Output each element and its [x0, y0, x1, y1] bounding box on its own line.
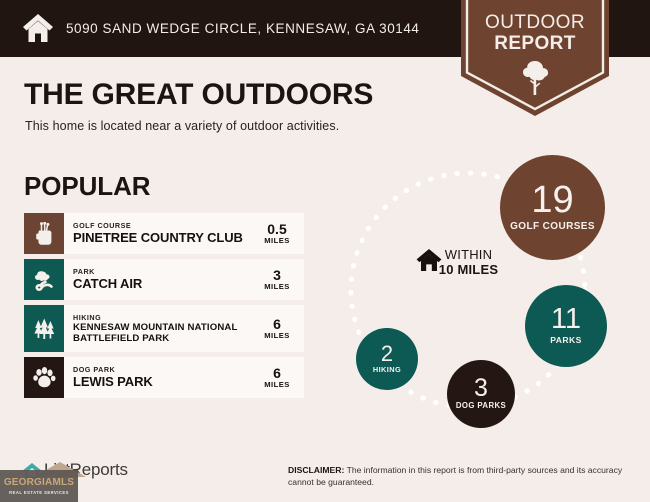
list-item-name: LEWIS PARK — [73, 374, 254, 389]
bubble-label: HIKING — [373, 366, 401, 374]
badge-line2: REPORT — [461, 34, 609, 55]
bubble-label: PARKS — [550, 336, 581, 346]
bubble-value: 11 — [551, 306, 581, 334]
distance-value: 6 — [273, 317, 281, 332]
bubble-value: 2 — [381, 344, 393, 365]
outdoor-report-badge: OUTDOOR REPORT — [461, 0, 609, 116]
list-item-category: HIKING — [73, 313, 254, 322]
golf-bag-icon — [24, 213, 64, 254]
outdoor-counts-bubble-chart: 19 GOLF COURSES 11 PARKS 3 DOG PARKS 2 H… — [340, 148, 630, 438]
bubble-label: DOG PARKS — [456, 402, 506, 411]
badge-line1: OUTDOOR — [461, 13, 609, 34]
list-item[interactable]: HIKING KENNESAW MOUNTAIN NATIONAL BATTLE… — [24, 305, 304, 352]
distance-unit: MILES — [264, 282, 289, 291]
bubble-parks[interactable]: 11 PARKS — [525, 285, 607, 367]
badge-label: OUTDOOR REPORT — [461, 13, 609, 54]
popular-list: GOLF COURSE PINETREE COUNTRY CLUB 0.5 MI… — [24, 213, 304, 403]
list-item-distance: 6 MILES — [254, 357, 304, 398]
page-subtitle: This home is located near a variety of o… — [25, 119, 339, 133]
list-item-category: DOG PARK — [73, 365, 254, 374]
bubble-golf-courses[interactable]: 19 GOLF COURSES — [500, 155, 605, 260]
pine-trees-icon — [24, 305, 64, 352]
list-item-distance: 0.5 MILES — [254, 213, 304, 254]
bubble-hiking[interactable]: 2 HIKING — [356, 328, 418, 390]
paw-print-icon — [24, 357, 64, 398]
property-address: 5090 SAND WEDGE CIRCLE, KENNESAW, GA 301… — [66, 21, 419, 36]
list-item-category: PARK — [73, 267, 254, 276]
georgia-mls-watermark: GEORGIAMLS REAL ESTATE SERVICES — [0, 470, 78, 502]
home-icon — [22, 13, 54, 43]
bubble-dog-parks[interactable]: 3 DOG PARKS — [447, 360, 515, 428]
disclaimer-label: DISCLAIMER: — [288, 465, 344, 475]
mls-name: GEORGIAMLS — [4, 478, 74, 488]
tree-icon — [520, 60, 550, 96]
list-item[interactable]: GOLF COURSE PINETREE COUNTRY CLUB 0.5 MI… — [24, 213, 304, 254]
mls-name-part2: MLS — [52, 477, 74, 488]
page-title: THE GREAT OUTDOORS — [24, 78, 373, 112]
park-icon — [24, 259, 64, 300]
list-item[interactable]: DOG PARK LEWIS PARK 6 MILES — [24, 357, 304, 398]
bubble-value: 19 — [531, 182, 573, 218]
distance-value: 0.5 — [267, 222, 286, 237]
distance-unit: MILES — [264, 331, 289, 340]
list-item-name: KENNESAW MOUNTAIN NATIONAL BATTLEFIELD P… — [73, 322, 254, 344]
mls-tagline: REAL ESTATE SERVICES — [9, 490, 69, 495]
diagram-center: WITHIN 10 MILES — [416, 248, 521, 278]
distance-value: 6 — [273, 366, 281, 381]
distance-unit: MILES — [264, 236, 289, 245]
bubble-value: 3 — [474, 377, 488, 401]
disclaimer: DISCLAIMER: The information in this repo… — [288, 464, 638, 488]
list-item-name: PINETREE COUNTRY CLUB — [73, 230, 254, 245]
bubble-label: GOLF COURSES — [510, 221, 595, 232]
list-item-category: GOLF COURSE — [73, 221, 254, 230]
list-item-distance: 3 MILES — [254, 259, 304, 300]
home-icon — [416, 248, 442, 272]
distance-value: 3 — [273, 268, 281, 283]
list-item-distance: 6 MILES — [254, 305, 304, 352]
distance-unit: MILES — [264, 380, 289, 389]
list-item[interactable]: PARK CATCH AIR 3 MILES — [24, 259, 304, 300]
popular-heading: POPULAR — [24, 171, 150, 202]
list-item-name: CATCH AIR — [73, 276, 254, 291]
mls-name-part1: GEORGIA — [4, 477, 53, 488]
